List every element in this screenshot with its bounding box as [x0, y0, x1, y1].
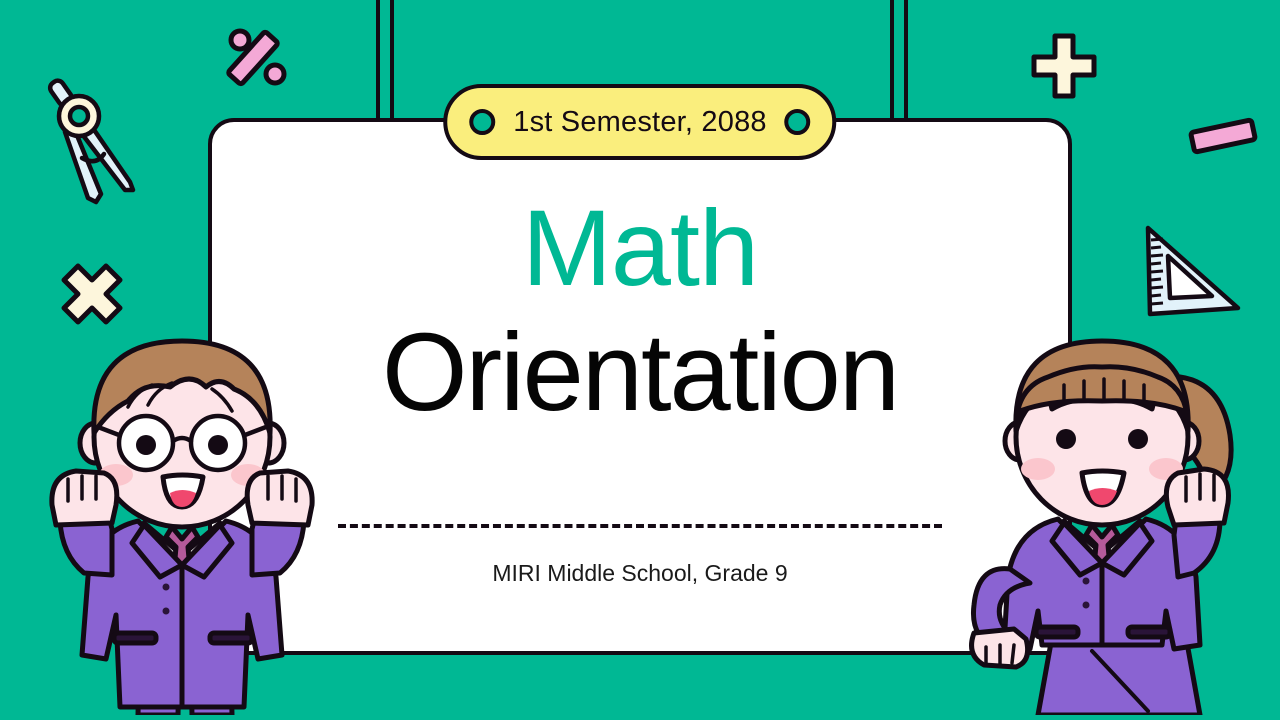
semester-badge: 1st Semester, 2088	[443, 84, 836, 160]
teal-dot-icon-left	[469, 109, 495, 135]
semester-badge-label: 1st Semester, 2088	[513, 106, 766, 139]
page-title-primary: Math	[0, 196, 1280, 300]
plus-symbol-icon	[1028, 30, 1100, 107]
student-boy-illustration	[20, 315, 350, 720]
student-girl-illustration	[952, 315, 1272, 720]
dashed-divider	[338, 524, 942, 528]
presentation-slide: Math Orientation MIRI Middle School, Gra…	[0, 0, 1280, 720]
hanging-string-right-b	[904, 0, 908, 124]
hanging-string-right-a	[890, 0, 894, 124]
percent-symbol-icon	[222, 22, 294, 99]
teal-dot-icon-right	[785, 109, 811, 135]
minus-symbol-icon	[1186, 110, 1262, 167]
hanging-string-left-a	[376, 0, 380, 124]
hanging-string-left-b	[390, 0, 394, 124]
